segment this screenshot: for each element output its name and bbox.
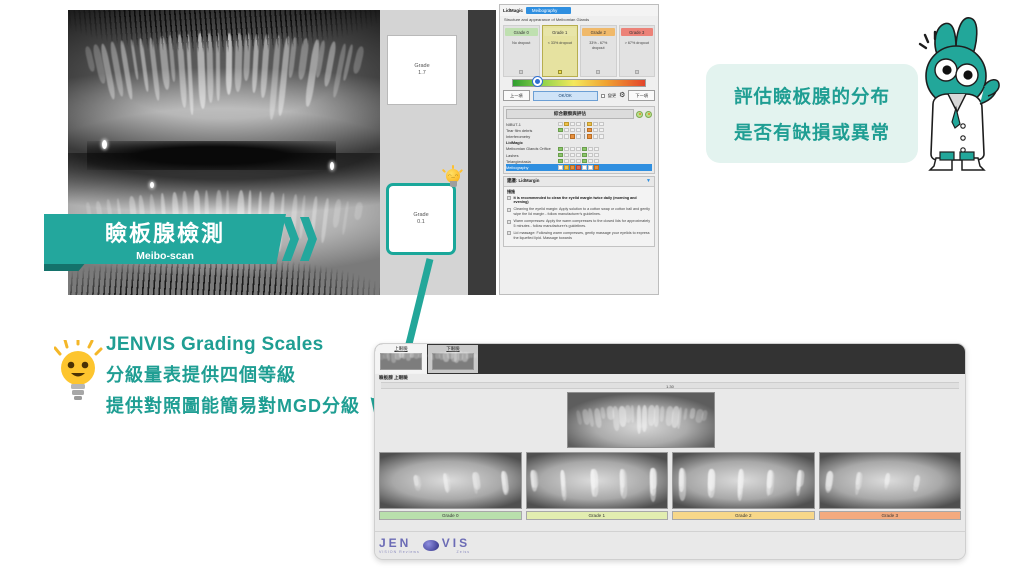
grade-3-desc: > 67% dropout — [621, 41, 654, 46]
grade-0-radio[interactable] — [519, 70, 523, 74]
severity-spectrum[interactable] — [500, 77, 658, 87]
tip-heading: JENVIS Grading Scales — [106, 334, 360, 356]
tip-line-2: 分級量表提供四個等級 — [106, 361, 360, 387]
jenvis-tip-block: JENVIS Grading Scales 分級量表提供四個等級 提供對照圖能簡… — [48, 334, 378, 438]
summary-panel: 綜合觀察與評估 NIBUT-1 Tear film debris — [503, 106, 655, 174]
lidmagic-software-panel: LidMagic Meibography Structure and appea… — [499, 4, 659, 295]
row-label: Meibography — [506, 165, 558, 170]
table-row-selected[interactable]: Meibography — [506, 164, 652, 170]
row-label: Telangiectasia — [506, 159, 558, 164]
row-cells — [558, 159, 599, 163]
checkbox[interactable] — [507, 231, 511, 235]
grade-2-desc: 33% - 67% dropout — [582, 41, 615, 51]
status-indicator-left — [636, 111, 643, 118]
change-checkbox[interactable] — [601, 94, 605, 98]
comparison-image-3 — [819, 452, 962, 509]
tip-line-3: 提供對照圖能簡易對MGD分級 — [106, 392, 360, 418]
grade-2-header: Grade 2 — [582, 28, 615, 36]
meibo-scan-banner: 瞼板腺檢測 Meibo-scan — [44, 209, 334, 269]
tab-meibography[interactable]: Meibography — [526, 7, 571, 14]
list-item[interactable]: Cleaning the eyelid margin: Apply soluti… — [507, 207, 651, 217]
mascot-character — [900, 8, 1012, 184]
chevron-down-icon[interactable]: ▼ — [646, 178, 651, 184]
tab-lower-thumbnail — [432, 353, 474, 370]
grade-2-radio[interactable] — [596, 70, 600, 74]
grade-option-3[interactable]: Grade 3 > 67% dropout — [619, 25, 656, 77]
grade-3-radio[interactable] — [635, 70, 639, 74]
grade-1-radio[interactable] — [558, 70, 562, 74]
lidmagic-app-name: LidMagic — [503, 8, 523, 13]
row-label: Tear film debris — [506, 128, 558, 133]
chevron-right-icon — [282, 217, 299, 261]
specular-highlight — [150, 182, 154, 188]
advice-subtitle: 措施 — [504, 187, 654, 196]
logo-orb-icon — [423, 540, 439, 551]
grade-thumbnail-lower[interactable]: Grade 0.1 — [386, 183, 456, 255]
gland-striations — [819, 452, 962, 509]
status-indicator-right — [645, 111, 652, 118]
advice-list: It is recommended to clean the eyelid ma… — [504, 196, 654, 246]
specular-highlight — [330, 162, 334, 170]
bubble-line-2: 是否有缺損或異常 — [706, 119, 918, 145]
lidmagic-button-row: 上一項 OK/OK 變更 ⚙ 下一項 — [500, 87, 658, 104]
grade-thumbnail-upper[interactable]: Grade 1.7 — [387, 35, 457, 105]
row-cells — [558, 134, 604, 139]
meibography-app-window: 上眼瞼 下眼瞼 瞼板腺 上眼瞼 1.30 Grade 0 Grade 1 — [374, 343, 966, 560]
lidmagic-subtitle: Structure and appearance of Meibomian Gl… — [500, 16, 658, 25]
row-label: Interferometry — [506, 134, 558, 139]
row-label: LidMagic — [506, 140, 558, 145]
row-label: NIBUT-1 — [506, 122, 558, 127]
row-label: Lashes — [506, 153, 558, 158]
tab-lower-eyelid[interactable]: 下眼瞼 — [428, 345, 478, 373]
gear-icon[interactable]: ⚙ — [619, 92, 625, 99]
eye-aperture — [87, 141, 337, 170]
summary-rows: NIBUT-1 Tear film debris Interferometry — [506, 121, 652, 171]
gland-striations — [432, 353, 474, 370]
logo-sub-1: VISION Reviews — [379, 550, 420, 554]
row-cells — [558, 122, 604, 127]
breadcrumb: 瞼板腺 上眼瞼 — [379, 375, 408, 381]
device-dark-strip — [468, 10, 496, 295]
logo-word-1: JEN — [379, 536, 420, 550]
checkbox[interactable] — [507, 208, 511, 212]
logo-sub-2: Zeiss — [442, 550, 470, 554]
advice-text: Warm compresses: Apply the warm compress… — [514, 219, 652, 229]
scale-ruler: 1.30 — [381, 382, 959, 389]
lightbulb-icon — [54, 340, 104, 402]
row-cells — [558, 128, 604, 133]
checkbox[interactable] — [507, 220, 511, 224]
gland-striations — [568, 393, 714, 447]
row-label: Meibomian Glands Orifice — [506, 146, 558, 151]
prev-button[interactable]: 上一項 — [503, 90, 530, 101]
upper-lashes — [68, 10, 380, 69]
lightbulb-icon: ◠‿◠ — [442, 165, 464, 191]
grading-scale-row: Grade 0 No dropout Grade 1 < 33% dropout… — [500, 25, 658, 77]
banner-title-zh: 瞼板腺檢測 — [105, 216, 225, 248]
grade-option-1[interactable]: Grade 1 < 33% dropout — [542, 25, 579, 77]
banner-body: 瞼板腺檢測 Meibo-scan — [44, 214, 286, 264]
grade-comparison-row: Grade 0 Grade 1 Grade 2 Grade 3 — [379, 452, 961, 520]
advice-title: 建議: LidMargin — [507, 178, 539, 184]
bubble-line-1: 評估瞼板腺的分布 — [706, 83, 918, 109]
row-cells — [558, 147, 599, 151]
lidmagic-titlebar: LidMagic Meibography — [500, 5, 658, 16]
tip-text-lines: JENVIS Grading Scales 分級量表提供四個等級 提供對照圖能簡… — [106, 334, 360, 418]
confirm-button[interactable]: OK/OK — [533, 91, 598, 101]
list-item[interactable]: Lid massage: Following warm compresses, … — [507, 231, 651, 241]
row-cells — [558, 165, 599, 169]
specular-highlight — [102, 140, 107, 149]
tab-upper-thumbnail — [380, 353, 422, 370]
grade-0-header: Grade 0 — [505, 28, 538, 36]
summary-title: 綜合觀察與評估 — [506, 109, 634, 119]
change-checkbox-label: 變更 — [608, 93, 616, 99]
list-item[interactable]: Warm compresses: Apply the warm compress… — [507, 219, 651, 229]
logo-word-2: VIS — [442, 536, 470, 550]
slide-canvas: Grade 1.7 Grade 0.1 ◠‿◠ LidMagic Meibogr… — [0, 0, 1024, 573]
gland-striations — [380, 353, 422, 370]
grade-0-desc: No dropout — [505, 41, 538, 46]
checkbox[interactable] — [507, 196, 511, 200]
summary-header: 綜合觀察與評估 — [506, 109, 652, 119]
main-meibography-image[interactable] — [567, 392, 715, 448]
grade-option-0[interactable]: Grade 0 No dropout — [503, 25, 540, 77]
row-cells — [558, 153, 599, 157]
list-item[interactable]: It is recommended to clean the eyelid ma… — [507, 196, 651, 206]
app-topbar: 上眼瞼 下眼瞼 — [375, 344, 965, 374]
advice-text: Lid massage: Following warm compresses, … — [514, 231, 652, 241]
grade-1-header: Grade 1 — [544, 28, 577, 36]
jenvis-logo: JEN VISION Reviews VIS Zeiss — [379, 536, 470, 554]
advice-text: It is recommended to clean the eyelid ma… — [514, 196, 652, 206]
main-image-content — [568, 393, 714, 447]
grade-thumbnail-lower-text: Grade 0.1 — [413, 212, 428, 227]
speech-bubble: 評估瞼板腺的分布 是否有缺損或異常 — [706, 64, 918, 163]
tab-upper-eyelid[interactable]: 上眼瞼 — [376, 345, 426, 373]
grade-1-desc: < 33% dropout — [544, 41, 577, 46]
spectrum-slider-knob[interactable] — [533, 77, 542, 86]
advice-header[interactable]: 建議: LidMargin ▼ — [504, 177, 654, 187]
app-footer: JEN VISION Reviews VIS Zeiss — [375, 531, 965, 559]
next-button[interactable]: 下一項 — [628, 90, 655, 101]
grade-thumbnail-upper-text: Grade 1.7 — [414, 63, 429, 78]
advice-panel: 建議: LidMargin ▼ 措施 It is recommended to … — [503, 176, 655, 247]
grade-3-header: Grade 3 — [621, 28, 654, 36]
chevron-right-icon — [300, 217, 317, 261]
banner-title-en: Meibo-scan — [136, 250, 194, 262]
grade-option-2[interactable]: Grade 2 33% - 67% dropout — [580, 25, 617, 77]
advice-text: Cleaning the eyelid margin: Apply soluti… — [514, 207, 652, 217]
comparison-grade-3[interactable]: Grade 3 — [819, 452, 962, 520]
